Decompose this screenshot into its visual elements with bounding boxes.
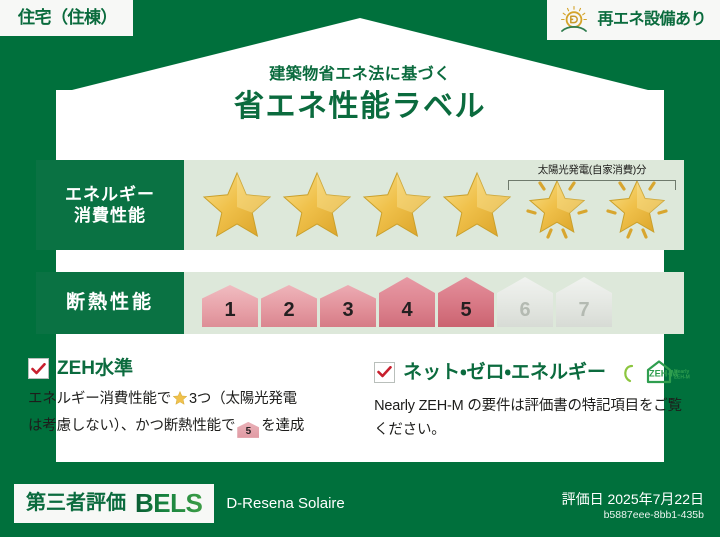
renewable-energy-label: 再エネ設備あり <box>597 12 706 28</box>
svg-text:ZEH-M: ZEH-M <box>674 375 690 381</box>
bels-wordmark: BELS <box>135 490 202 516</box>
star-icon-inline <box>172 394 188 410</box>
insulation-performance-label-cell: 断熱性能 <box>36 272 184 334</box>
building-type-badge: 住宅（住棟） <box>0 0 133 36</box>
star-icon <box>278 167 356 243</box>
criteria-zeh-body-stars: 3つ（太陽光発電 <box>189 391 297 407</box>
star-icon <box>358 167 436 243</box>
star-icon-solar <box>598 167 676 243</box>
criteria-zeh-body-part3: を達成 <box>261 418 304 434</box>
insulation-level-number: 6 <box>519 300 530 327</box>
zeh-m-logo-icon: ZEH-M Nearly ZEH-M <box>618 358 692 386</box>
insulation-level-chip: 7 <box>556 277 612 327</box>
criteria-zeh-body-part2: は考慮しない）、かつ断熱性能で <box>28 418 235 434</box>
energy-performance-row: エネルギー 消費性能 <box>36 160 684 250</box>
energy-performance-label-cell: エネルギー 消費性能 <box>36 160 184 250</box>
criteria-zeh-body-part1: エネルギー消費性能で <box>28 391 171 407</box>
insulation-label: 断熱性能 <box>66 291 154 315</box>
evaluation-id: b5887eee-8bb1-435b <box>562 508 704 523</box>
energy-label-line1: エネルギー <box>65 184 155 205</box>
star-icon-solar <box>518 167 596 243</box>
criteria-zeh-header: ZEH水準 <box>28 358 348 379</box>
star-icon <box>198 167 276 243</box>
criteria-zeh-body: エネルギー消費性能で3つ（太陽光発電 は考慮しない）、かつ断熱性能で5を達成 <box>28 388 348 439</box>
project-name: D-Resena Solaire <box>226 496 344 511</box>
energy-performance-label: 住宅（住棟） 再エネ設備あり 建築物省エネ法に基づく <box>0 0 720 537</box>
insulation-level-number: 5 <box>460 300 471 327</box>
criteria-nze-header: ネット・ゼロ・エネルギー ZEH-M Nearly ZEH-M <box>374 358 692 386</box>
check-icon <box>374 362 395 383</box>
star-icon <box>438 167 516 243</box>
footer-eval-block: 評価日 2025年7月22日 b5887eee-8bb1-435b <box>562 490 704 523</box>
evaluation-date: 評価日 2025年7月22日 <box>562 490 704 508</box>
energy-label-line2: 消費性能 <box>74 205 146 226</box>
insulation-level-number: 4 <box>401 300 412 327</box>
insulation-level-number: 2 <box>283 300 294 327</box>
solar-sun-icon <box>557 5 591 35</box>
insulation-level-chip: 1 <box>202 285 258 327</box>
energy-performance-value-cell: 太陽光発電(自家消費)分 <box>184 160 684 250</box>
star-rating: 太陽光発電(自家消費)分 <box>184 167 684 243</box>
insulation-chip-inline: 5 <box>237 422 259 438</box>
footer-bels-block: 第三者評価 BELS D-Resena Solaire <box>14 484 345 523</box>
insulation-level-chip: 2 <box>261 285 317 327</box>
criteria-section: ZEH水準 エネルギー消費性能で3つ（太陽光発電 は考慮しない）、かつ断熱性能で… <box>0 358 720 443</box>
third-party-label: 第三者評価 <box>26 493 126 513</box>
insulation-performance-value-cell: 1 2 3 4 5 6 7 <box>184 272 684 334</box>
insulation-level-chip: 5 <box>438 277 494 327</box>
criteria-zeh-standard: ZEH水準 エネルギー消費性能で3つ（太陽光発電 は考慮しない）、かつ断熱性能で… <box>28 358 348 443</box>
insulation-level-chip: 4 <box>379 277 435 327</box>
renewable-energy-badge: 再エネ設備あり <box>547 0 720 40</box>
insulation-level-number: 1 <box>224 300 235 327</box>
criteria-nze-body: Nearly ZEH-M の要件は評価書の特記項目をご覧ください。 <box>374 395 692 443</box>
insulation-level-chip: 3 <box>320 285 376 327</box>
insulation-level-number: 3 <box>342 300 353 327</box>
criteria-zeh-title: ZEH水準 <box>57 359 133 378</box>
bels-badge: 第三者評価 BELS <box>14 484 214 523</box>
criteria-nze-title: ネット・ゼロ・エネルギー <box>403 363 606 382</box>
check-icon <box>28 358 49 379</box>
insulation-level-number: 7 <box>578 300 589 327</box>
insulation-level-scale: 1 2 3 4 5 6 7 <box>184 272 612 334</box>
building-type-label: 住宅（住棟） <box>18 8 117 27</box>
insulation-performance-row: 断熱性能 1 2 3 4 5 6 <box>36 272 684 334</box>
criteria-net-zero-energy: ネット・ゼロ・エネルギー ZEH-M Nearly ZEH-M Nearly Z… <box>348 358 692 443</box>
insulation-level-chip: 6 <box>497 277 553 327</box>
